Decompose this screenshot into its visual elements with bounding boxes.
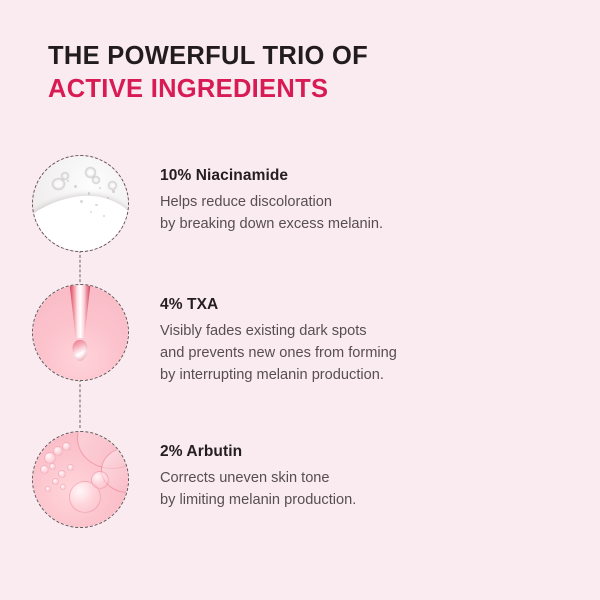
ingredient-item-niacinamide: 10% Niacinamide Helps reduce discolorati… xyxy=(0,155,600,252)
connector-line-1 xyxy=(80,250,81,287)
ingredient-title: 10% Niacinamide xyxy=(160,167,600,185)
description-line: Visibly fades existing dark spots xyxy=(160,320,600,342)
ingredients-list: 10% Niacinamide Helps reduce discolorati… xyxy=(0,155,600,528)
connector-line-2 xyxy=(80,379,81,428)
ingredient-description: Visibly fades existing dark spots and pr… xyxy=(160,320,600,387)
page-title: THE POWERFUL TRIO OF ACTIVE INGREDIENTS xyxy=(48,40,368,105)
text-column-1: 10% Niacinamide Helps reduce discolorati… xyxy=(160,155,600,235)
description-line: Helps reduce discoloration xyxy=(160,191,600,213)
description-line: Corrects uneven skin tone xyxy=(160,467,600,489)
niacinamide-gel-texture-icon xyxy=(32,155,129,252)
media-column-1 xyxy=(0,155,160,252)
text-column-2: 4% TXA Visibly fades existing dark spots… xyxy=(160,284,600,387)
description-line: by breaking down excess melanin. xyxy=(160,213,600,235)
ingredient-item-arbutin: 2% Arbutin Corrects uneven skin tone by … xyxy=(0,431,600,528)
arbutin-serum-bubbles-icon xyxy=(32,431,129,528)
txa-dropper-pipette-icon xyxy=(32,284,129,381)
description-line: and prevents new ones from forming xyxy=(160,342,600,364)
headline-line-2: ACTIVE INGREDIENTS xyxy=(48,73,368,106)
ingredient-description: Corrects uneven skin tone by limiting me… xyxy=(160,467,600,511)
media-column-3 xyxy=(0,431,160,528)
headline-line-1: THE POWERFUL TRIO OF xyxy=(48,40,368,73)
description-line: by interrupting melanin production. xyxy=(160,364,600,386)
ingredient-description: Helps reduce discoloration by breaking d… xyxy=(160,191,600,235)
ingredient-title: 4% TXA xyxy=(160,296,600,314)
ingredient-item-txa: 4% TXA Visibly fades existing dark spots… xyxy=(0,284,600,387)
media-column-2 xyxy=(0,284,160,381)
description-line: by limiting melanin production. xyxy=(160,489,600,511)
text-column-3: 2% Arbutin Corrects uneven skin tone by … xyxy=(160,431,600,511)
ingredient-title: 2% Arbutin xyxy=(160,443,600,461)
